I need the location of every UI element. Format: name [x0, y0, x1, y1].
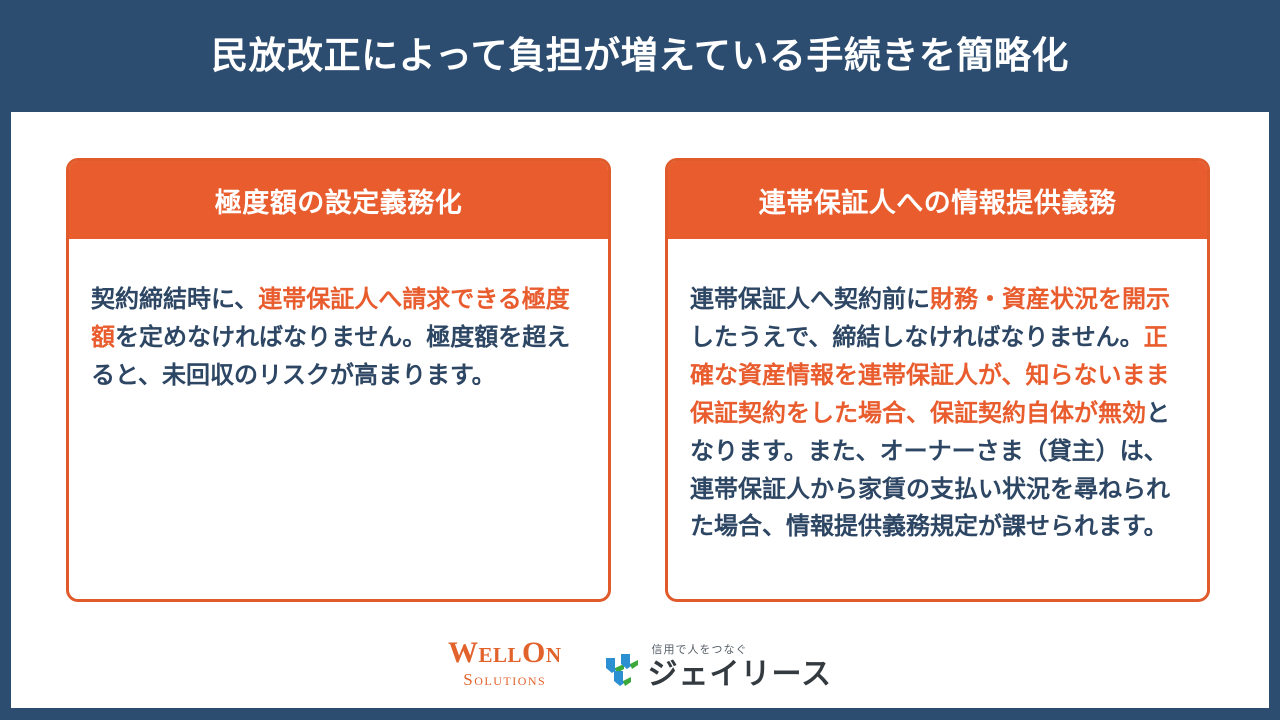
content-panel: 極度額の設定義務化 契約締結時に、連帯保証人へ請求できる極度額を定めなければなり…	[11, 112, 1269, 708]
jlease-tagline: 信用で人をつなぐ	[652, 645, 748, 656]
text-run: を定めなければなりません。極度額を超えると、未回収のリスクが高まります。	[91, 324, 570, 389]
card-header-label: 連帯保証人への情報提供義務	[759, 181, 1117, 220]
card-kyokudogaku: 極度額の設定義務化 契約締結時に、連帯保証人へ請求できる極度額を定めなければなり…	[66, 158, 611, 602]
card-joho-teikyo-gimu: 連帯保証人への情報提供義務 連帯保証人へ契約前に財務・資産状況を開示したうえで、…	[665, 158, 1210, 602]
card-body: 連帯保証人へ契約前に財務・資産状況を開示したうえで、締結しなければなりません。正…	[668, 239, 1207, 580]
card-header: 連帯保証人への情報提供義務	[668, 161, 1207, 239]
text-run: したうえで、締結しなければなりません。	[690, 324, 1144, 351]
wellon-logo: WellOn Solutions	[448, 638, 562, 690]
text-run: 連帯保証人へ契約前に	[690, 286, 930, 313]
card-body: 契約締結時に、連帯保証人へ請求できる極度額を定めなければなりません。極度額を超え…	[69, 239, 608, 429]
page-title: 民放改正によって負担が増えている手続きを簡略化	[211, 36, 1069, 77]
jlease-logo-name: ジェイリース	[648, 660, 833, 690]
text-run: 契約締結時に、	[91, 286, 258, 313]
wellon-logo-subtitle: Solutions	[463, 671, 546, 688]
card-header-label: 極度額の設定義務化	[215, 181, 463, 220]
cards-container: 極度額の設定義務化 契約締結時に、連帯保証人へ請求できる極度額を定めなければなり…	[11, 112, 1269, 708]
footer-logos: WellOn Solutions	[11, 638, 1269, 690]
card-header: 極度額の設定義務化	[69, 161, 608, 239]
jlease-pinwheel-icon	[604, 652, 640, 688]
jlease-logo-text: 信用で人をつなぐ ジェイリース	[648, 645, 833, 690]
highlighted-text-run: 財務・資産状況を開示	[930, 286, 1170, 313]
title-band: 民放改正によって負担が増えている手続きを簡略化	[0, 0, 1280, 112]
card-body-text: 契約締結時に、連帯保証人へ請求できる極度額を定めなければなりません。極度額を超え…	[91, 281, 586, 395]
slide-root: 民放改正によって負担が増えている手続きを簡略化 極度額の設定義務化 契約締結時に…	[0, 0, 1280, 720]
jlease-logo: 信用で人をつなぐ ジェイリース	[604, 645, 833, 690]
card-body-text: 連帯保証人へ契約前に財務・資産状況を開示したうえで、締結しなければなりません。正…	[690, 281, 1185, 546]
wellon-logo-name: WellOn	[448, 638, 562, 668]
